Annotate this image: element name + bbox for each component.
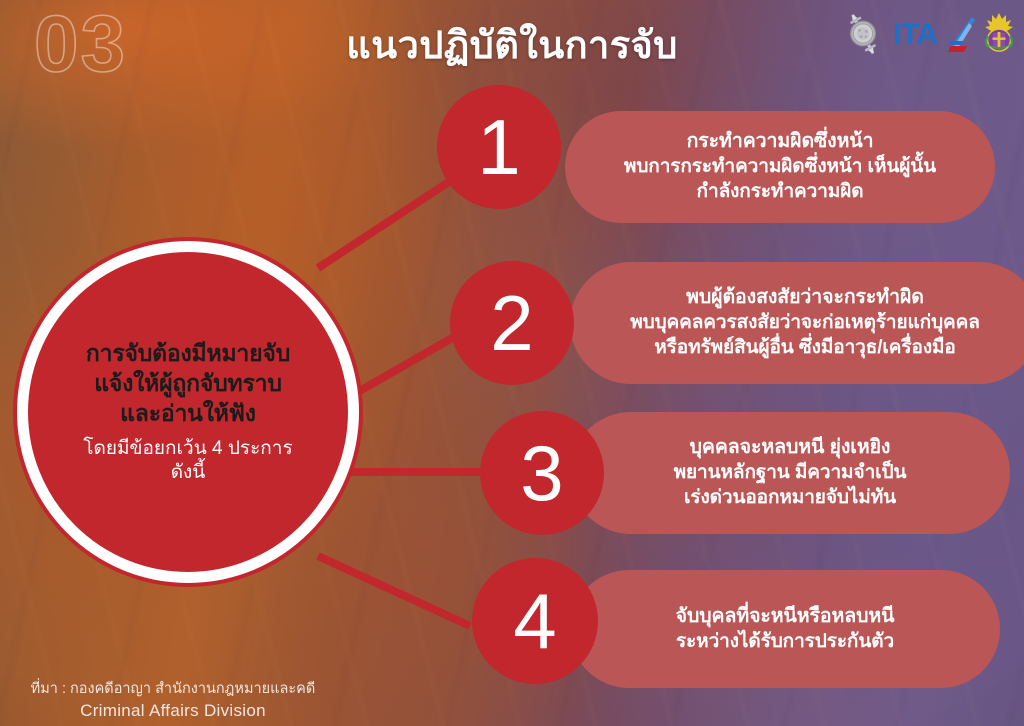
source-text-thai: ที่มา : กองคดีอาญา สำนักงานกฎหมายและคดี xyxy=(8,679,338,699)
ita-logo-icon: ITA xyxy=(893,14,975,54)
item-3-body-line-1: พยานหลักฐาน มีความจำเป็น xyxy=(674,460,907,485)
source-footer: ที่มา : กองคดีอาญา สำนักงานกฎหมายและคดี … xyxy=(8,679,338,722)
logo-group: ITA xyxy=(840,10,1016,58)
item-1-heading: กระทำความผิดซึ่งหน้า xyxy=(687,129,874,154)
item-1-number-badge: 1 xyxy=(437,85,561,209)
list-item-4[interactable]: จับบุคลที่จะหนีหรือหลบหนี ระหว่างได้รับก… xyxy=(540,570,1000,688)
item-2-heading: พบผู้ต้องสงสัยว่าจะกระทำผิด xyxy=(686,285,924,310)
source-text-english: Criminal Affairs Division xyxy=(8,699,338,722)
list-item-3[interactable]: บุคคลจะหลบหนี ยุ่งเหยิง พยานหลักฐาน มีคว… xyxy=(540,412,1010,534)
moac-seal-emblem-icon xyxy=(840,12,886,56)
center-sub-text: โดยมีข้อยกเว้น 4 ประการ ดังนี้ xyxy=(83,437,292,485)
list-item-2[interactable]: พบผู้ต้องสงสัยว่าจะกระทำผิด พบบุคคลควรสง… xyxy=(515,262,1024,384)
central-statement-circle: การจับต้องมีหมายจับ แจ้งให้ผู้ถูกจับทราบ… xyxy=(28,252,348,572)
item-1-body-line-2: กำลังกระทำความผิด xyxy=(697,179,864,204)
center-main-line-2: แจ้งให้ผู้ถูกจับทราบ xyxy=(86,369,290,399)
royal-garuda-emblem-icon xyxy=(982,12,1016,56)
center-main-line-1: การจับต้องมีหมายจับ xyxy=(86,339,290,369)
center-main-text: การจับต้องมีหมายจับ แจ้งให้ผู้ถูกจับทราบ… xyxy=(86,339,290,429)
item-4-body-line-1: ระหว่างได้รับการประกันตัว xyxy=(676,629,894,654)
item-3-pill: บุคคลจะหลบหนี ยุ่งเหยิง พยานหลักฐาน มีคว… xyxy=(570,412,1010,534)
item-1-body-line-1: พบการกระทำความผิดซึ่งหน้า เห็นผู้นั้น xyxy=(624,154,936,179)
center-main-line-3: และอ่านให้ฟัง xyxy=(86,399,290,429)
item-4-heading: จับบุคลที่จะหนีหรือหลบหนี xyxy=(676,604,895,629)
item-4-pill: จับบุคลที่จะหนีหรือหลบหนี ระหว่างได้รับก… xyxy=(570,570,1000,688)
item-2-pill: พบผู้ต้องสงสัยว่าจะกระทำผิด พบบุคคลควรสง… xyxy=(570,262,1024,384)
item-1-pill: กระทำความผิดซึ่งหน้า พบการกระทำความผิดซึ… xyxy=(565,111,995,223)
item-2-number-badge: 2 xyxy=(450,261,574,385)
item-3-heading: บุคคลจะหลบหนี ยุ่งเหยิง xyxy=(690,435,891,460)
item-3-number-badge: 3 xyxy=(480,411,604,535)
item-2-body-line-2: หรือทรัพย์สินผู้อื่น ซึ่งมีอาวุธ/เครื่อง… xyxy=(654,335,955,360)
infographic-slide: 03 แนวปฏิบัติในการจับ xyxy=(0,0,1024,726)
list-item-1[interactable]: กระทำความผิดซึ่งหน้า พบการกระทำความผิดซึ… xyxy=(505,111,995,223)
item-2-body-line-1: พบบุคคลควรสงสัยว่าจะก่อเหตุร้ายแก่บุคคล xyxy=(630,310,980,335)
item-3-body-line-2: เร่งด่วนออกหมายจับไม่ทัน xyxy=(684,485,896,510)
center-sub-line-2: ดังนี้ xyxy=(83,461,292,485)
item-4-number-badge: 4 xyxy=(472,558,598,684)
center-sub-line-1: โดยมีข้อยกเว้น 4 ประการ xyxy=(83,437,292,461)
svg-text:ITA: ITA xyxy=(893,18,938,51)
